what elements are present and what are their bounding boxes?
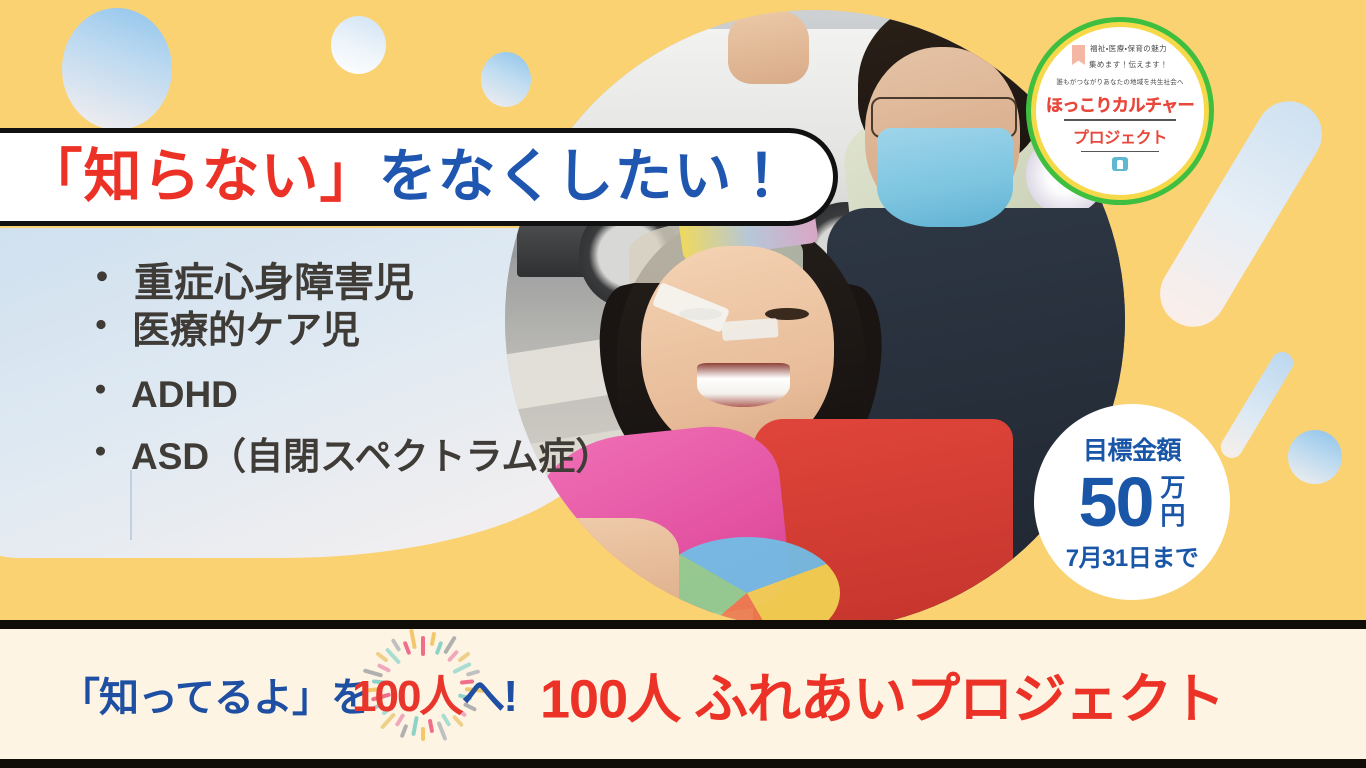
panel-divider-line (130, 470, 132, 540)
banner-project-name: 100人 ふれあいプロジェクト (540, 655, 1224, 734)
list-item: ・ 重症心身障害児 (82, 258, 542, 308)
logo-sub-name: プロジェクト (1073, 124, 1167, 148)
goal-amount-row: 50 万 円 (1079, 469, 1186, 536)
list-item: ・ ASD（自閉スペクトラム症） (82, 434, 542, 480)
logo-tagline-3: 誰もがつながりあなたの地域を共生社会へ (1056, 76, 1183, 86)
decorative-circle-large (62, 8, 172, 130)
list-item-label: ASD（自閉スペクトラム症） (131, 434, 612, 480)
headline-blue-part: をなくしたい！ (379, 144, 792, 209)
decorative-circle-right (1288, 430, 1342, 484)
condition-list: ・ 重症心身障害児 ・ 医療的ケア児 ・ ADHD ・ ASD（自閉スペクトラム… (82, 258, 542, 480)
goal-unit-man: 万 (1160, 475, 1185, 503)
decorative-bar-small (1217, 348, 1298, 462)
face-mask (877, 128, 1013, 227)
headline-ribbon: 「知らない」をなくしたい！ (0, 128, 838, 226)
logo-main-name: ほっこりカルチャー (1046, 91, 1194, 116)
logo-tagline-block: 福祉・医療・保育の魅力 集めます！伝えます！ (1072, 43, 1168, 70)
bullet-dot-icon: ・ (82, 372, 119, 409)
bottom-banner: 「知ってるよ」を 100人 ふれあいプロジェクト (0, 629, 1366, 759)
decorative-circle-medium (331, 16, 386, 74)
banner-lead-text: 「知ってるよ」を (60, 665, 370, 723)
funding-goal-badge: 目標金額 50 万 円 7月31日まで (1034, 404, 1230, 600)
goal-deadline: 7月31日まで (1066, 538, 1199, 573)
organization-logo[interactable]: 福祉・医療・保育の魅力 集めます！伝えます！ 誰もがつながりあなたの地域を共生社… (1031, 22, 1209, 200)
logo-tagline-1: 福祉・医療・保育の魅力 (1090, 43, 1167, 54)
goal-label: 目標金額 (1083, 431, 1181, 467)
bullet-dot-icon: ・ (82, 434, 119, 471)
house-icon (1112, 157, 1128, 171)
burst-count: 100人 (352, 672, 461, 721)
page-title: 「知らない」をなくしたい！ (24, 148, 791, 206)
goal-unit-yen: 円 (1160, 503, 1185, 531)
poster-canvas: 「知らない」をなくしたい！ ・ 重症心身障害児 ・ 医療的ケア児 ・ ADHD … (0, 0, 1366, 768)
goal-amount: 50 (1079, 469, 1153, 536)
bullet-dot-icon: ・ (82, 308, 120, 346)
bookmark-icon (1072, 45, 1085, 65)
headline-red-part: 「知らない」 (24, 144, 378, 209)
divider-lower (0, 759, 1366, 768)
burst-suffix: へ! (461, 672, 516, 721)
list-item-label: 医療的ケア児 (132, 308, 360, 356)
list-item-label: ADHD (131, 372, 238, 418)
divider-upper (0, 620, 1366, 629)
logo-divider (1064, 119, 1176, 121)
logo-divider-2 (1081, 151, 1159, 153)
logo-tagline-2: 集めます！伝えます！ (1089, 59, 1168, 70)
list-item: ・ ADHD (82, 372, 542, 418)
list-item: ・ 医療的ケア児 (82, 308, 542, 356)
banner-burst-text: 100人へ! (352, 660, 516, 724)
bullet-dot-icon: ・ (82, 258, 122, 298)
list-item-label: 重症心身障害児 (134, 258, 414, 308)
